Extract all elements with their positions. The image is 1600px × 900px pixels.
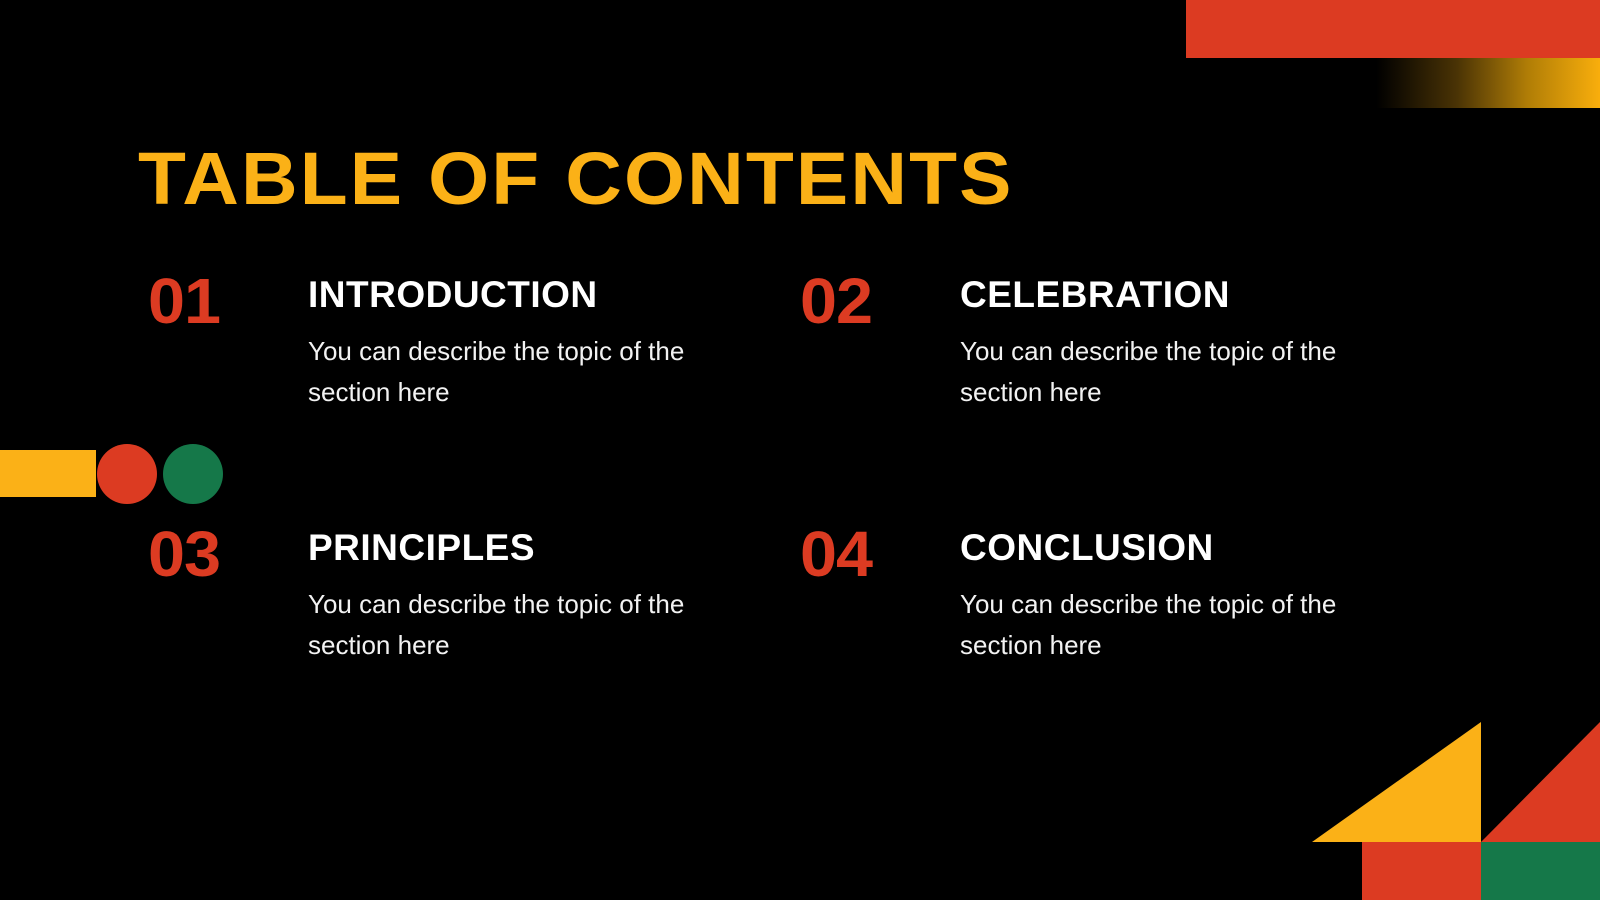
decor-red-triangle-bottom-right bbox=[1481, 722, 1600, 842]
toc-item-heading: CELEBRATION bbox=[960, 276, 1452, 315]
toc-item-description: You can describe the topic of the sectio… bbox=[308, 584, 748, 667]
toc-item-number: 03 bbox=[148, 525, 314, 584]
toc-item-heading: PRINCIPLES bbox=[308, 529, 800, 568]
toc-item-introduction[interactable]: 01 INTRODUCTION You can describe the top… bbox=[148, 272, 800, 525]
toc-item-text: PRINCIPLES You can describe the topic of… bbox=[308, 525, 800, 667]
toc-item-text: CELEBRATION You can describe the topic o… bbox=[960, 272, 1452, 414]
toc-item-description: You can describe the topic of the sectio… bbox=[960, 331, 1400, 414]
decor-red-bar-top-right bbox=[1186, 0, 1600, 58]
table-of-contents-grid: 01 INTRODUCTION You can describe the top… bbox=[148, 272, 1468, 667]
toc-item-heading: INTRODUCTION bbox=[308, 276, 800, 315]
toc-item-description: You can describe the topic of the sectio… bbox=[308, 331, 748, 414]
decor-green-square-bottom-right bbox=[1481, 842, 1600, 900]
toc-item-number: 01 bbox=[148, 272, 314, 331]
toc-item-number: 04 bbox=[800, 525, 966, 584]
decor-red-square-bottom-right bbox=[1362, 842, 1481, 900]
toc-item-principles[interactable]: 03 PRINCIPLES You can describe the topic… bbox=[148, 525, 800, 667]
page-title: TABLE OF CONTENTS bbox=[138, 142, 1014, 216]
toc-item-celebration[interactable]: 02 CELEBRATION You can describe the topi… bbox=[800, 272, 1452, 525]
toc-item-text: CONCLUSION You can describe the topic of… bbox=[960, 525, 1452, 667]
toc-item-description: You can describe the topic of the sectio… bbox=[960, 584, 1400, 667]
toc-item-heading: CONCLUSION bbox=[960, 529, 1452, 568]
decor-yellow-triangle-bottom-right bbox=[1312, 722, 1481, 842]
decor-yellow-rectangle-left bbox=[0, 450, 96, 497]
toc-item-number: 02 bbox=[800, 272, 966, 331]
decor-yellow-gradient-bar bbox=[1340, 58, 1600, 108]
toc-item-text: INTRODUCTION You can describe the topic … bbox=[308, 272, 800, 414]
toc-item-conclusion[interactable]: 04 CONCLUSION You can describe the topic… bbox=[800, 525, 1452, 667]
slide-canvas: TABLE OF CONTENTS 01 INTRODUCTION You ca… bbox=[0, 0, 1600, 900]
